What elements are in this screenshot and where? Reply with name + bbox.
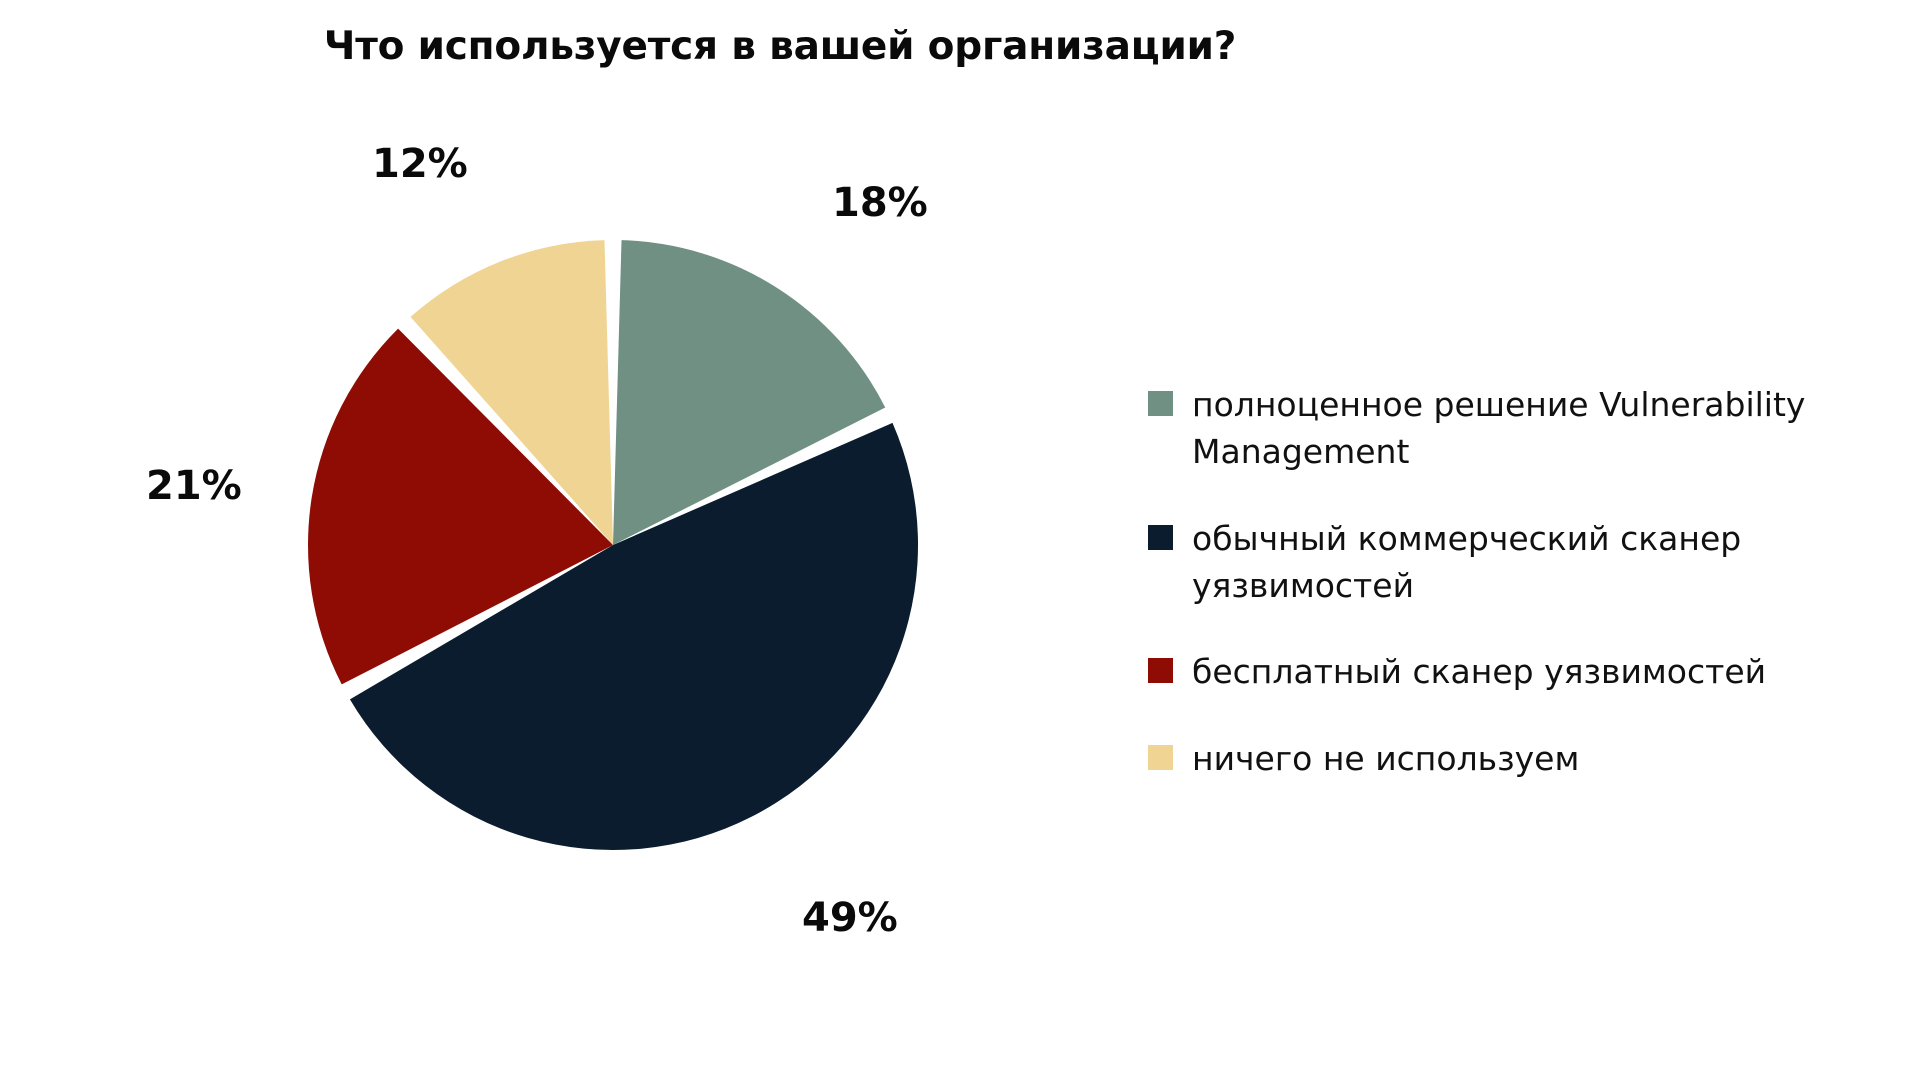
pie-chart-svg: [258, 190, 968, 900]
slice-value-label-0: 18%: [832, 183, 928, 223]
slice-value-label-2: 21%: [146, 466, 242, 506]
legend-item-3[interactable]: ничего не используем: [1148, 736, 1868, 783]
legend-item-1[interactable]: обычный коммерческий сканер уязвимостей: [1148, 516, 1868, 610]
legend-swatch-icon-2: [1148, 658, 1173, 683]
slice-value-label-1: 49%: [802, 898, 898, 938]
pie-chart: [258, 190, 968, 900]
slice-value-label-3: 12%: [372, 144, 468, 184]
legend-label-1: обычный коммерческий сканер уязвимостей: [1192, 516, 1852, 610]
legend-swatch-icon-1: [1148, 525, 1173, 550]
page-title: Что используется в вашей организации?: [0, 24, 1560, 69]
legend-label-0: полноценное решение Vulnerability Manage…: [1192, 382, 1852, 476]
legend-item-0[interactable]: полноценное решение Vulnerability Manage…: [1148, 382, 1868, 476]
chart-legend: полноценное решение Vulnerability Manage…: [1148, 382, 1868, 783]
legend-label-2: бесплатный сканер уязвимостей: [1192, 649, 1766, 696]
legend-swatch-icon-0: [1148, 391, 1173, 416]
legend-swatch-icon-3: [1148, 745, 1173, 770]
chart-page: Что используется в вашей организации? 18…: [0, 0, 1920, 1080]
legend-item-2[interactable]: бесплатный сканер уязвимостей: [1148, 649, 1868, 696]
legend-label-3: ничего не используем: [1192, 736, 1579, 783]
